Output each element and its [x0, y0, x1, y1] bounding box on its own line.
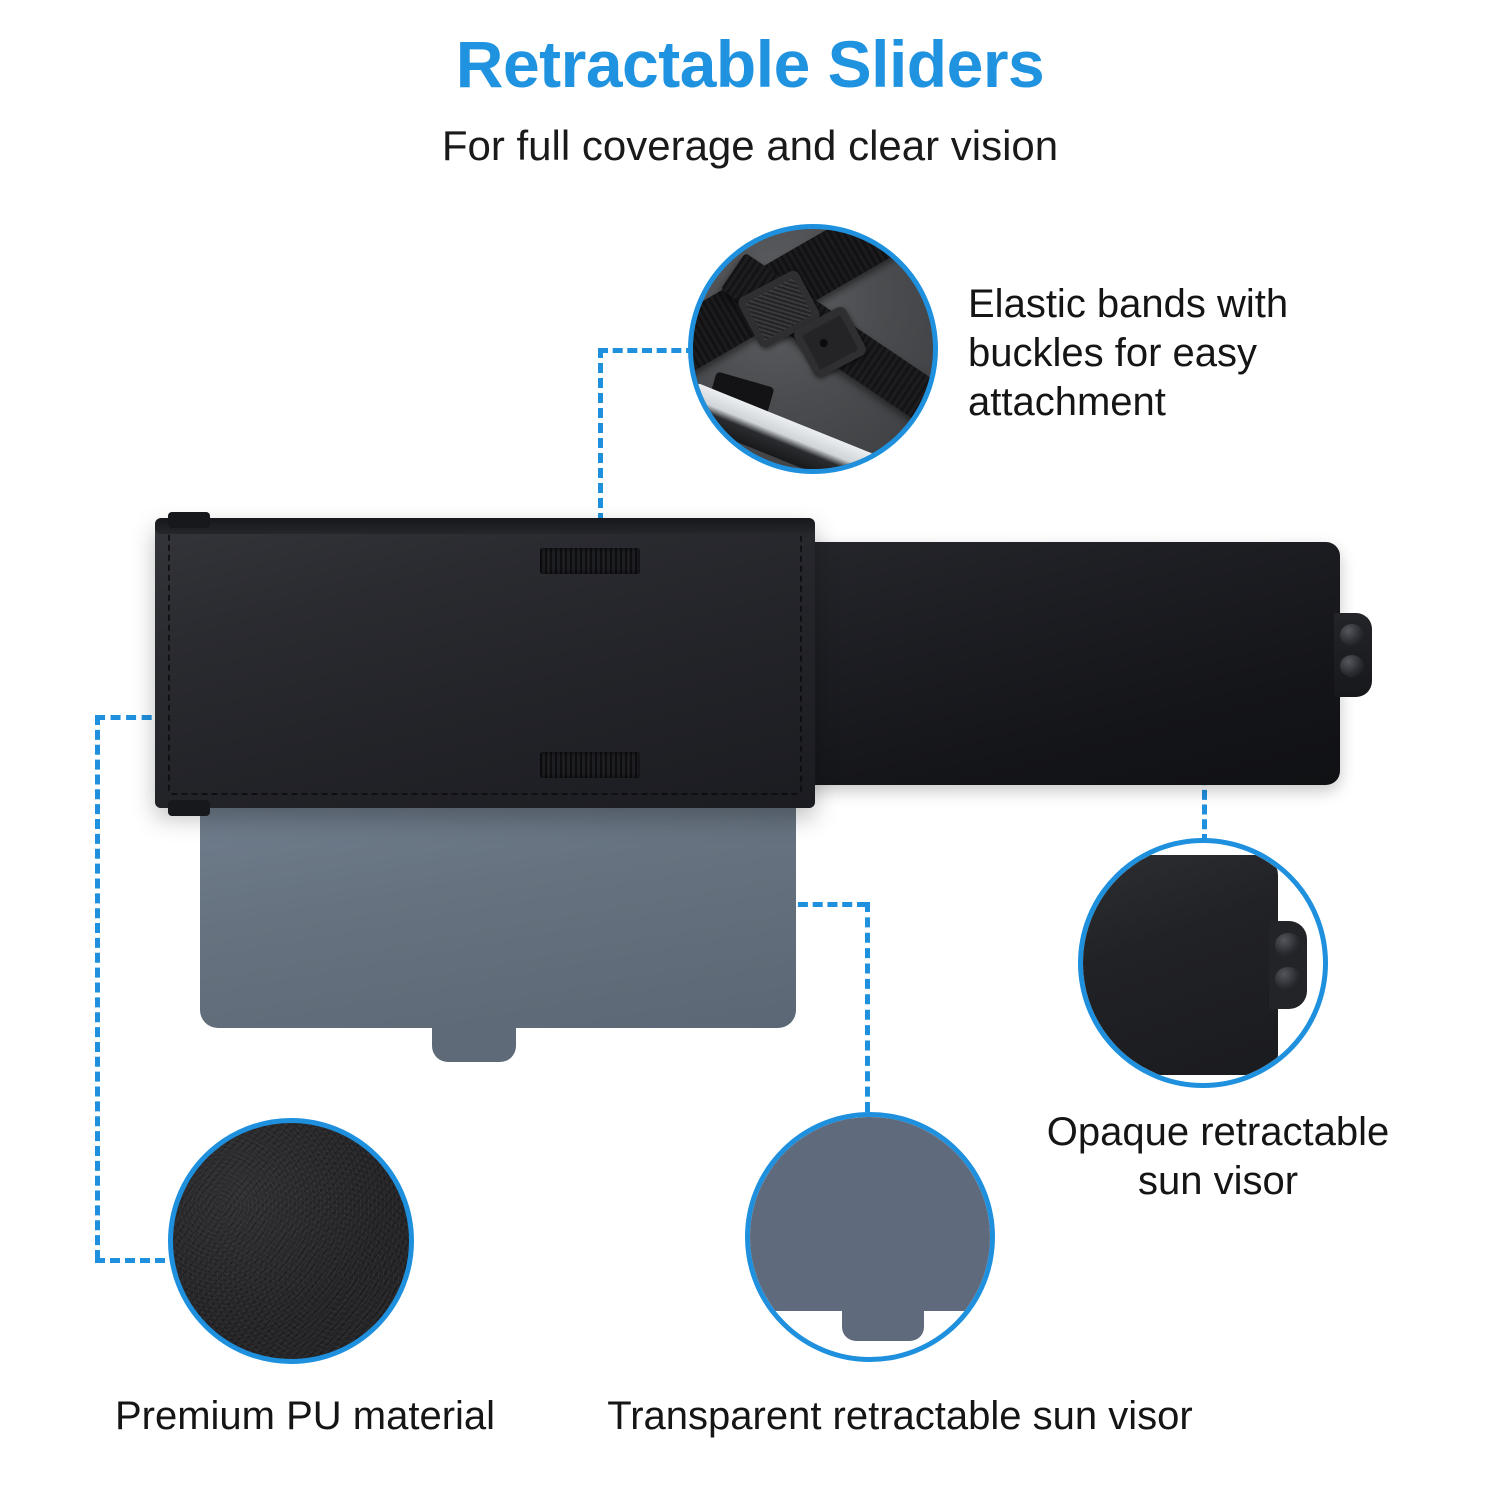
inset-circle-opaque-visor — [1078, 838, 1328, 1088]
callout-label-opaque-visor: Opaque retractable sun visor — [1012, 1108, 1424, 1206]
inset-circle-transparent-visor — [745, 1112, 995, 1362]
connector-pu-vertical — [95, 715, 100, 1260]
infographic-canvas: Retractable Sliders For full coverage an… — [0, 0, 1500, 1500]
opaque-visor-detail — [1078, 855, 1278, 1075]
opaque-slider-panel — [795, 542, 1340, 785]
page-title: Retractable Sliders — [0, 28, 1500, 101]
elastic-loop-icon — [540, 752, 640, 778]
pu-cover-top-lip — [155, 518, 815, 534]
page-subtitle: For full coverage and clear vision — [0, 122, 1500, 170]
transparent-visor-detail — [745, 1112, 995, 1311]
slider-grip-bump-icon — [1340, 655, 1364, 677]
connector-transparent-vertical — [865, 902, 870, 1112]
pu-leather-cover — [155, 518, 815, 808]
grip-bump-icon — [1275, 967, 1301, 991]
transparent-visor-panel — [200, 800, 796, 1028]
elastic-loop-icon — [540, 548, 640, 574]
grip-bump-icon — [1275, 933, 1301, 957]
visor-edge-detail — [688, 383, 883, 474]
inset-circle-elastic-bands — [688, 224, 938, 474]
slider-grip-bump-icon — [1340, 624, 1364, 646]
callout-label-transparent-visor: Transparent retractable sun visor — [560, 1392, 1240, 1441]
pu-cover-corner-tab — [168, 512, 210, 528]
transparent-visor-pull-tab — [432, 1022, 516, 1062]
pu-cover-corner-tab — [168, 800, 210, 816]
callout-label-elastic-bands: Elastic bands with buckles for easy atta… — [968, 280, 1368, 426]
callout-label-pu-material: Premium PU material — [55, 1392, 555, 1441]
transparent-visor-tab-detail — [842, 1303, 924, 1341]
inset-circle-pu-material — [168, 1118, 414, 1364]
connector-straps-vertical — [598, 348, 603, 523]
connector-straps-horizontal — [598, 348, 696, 353]
